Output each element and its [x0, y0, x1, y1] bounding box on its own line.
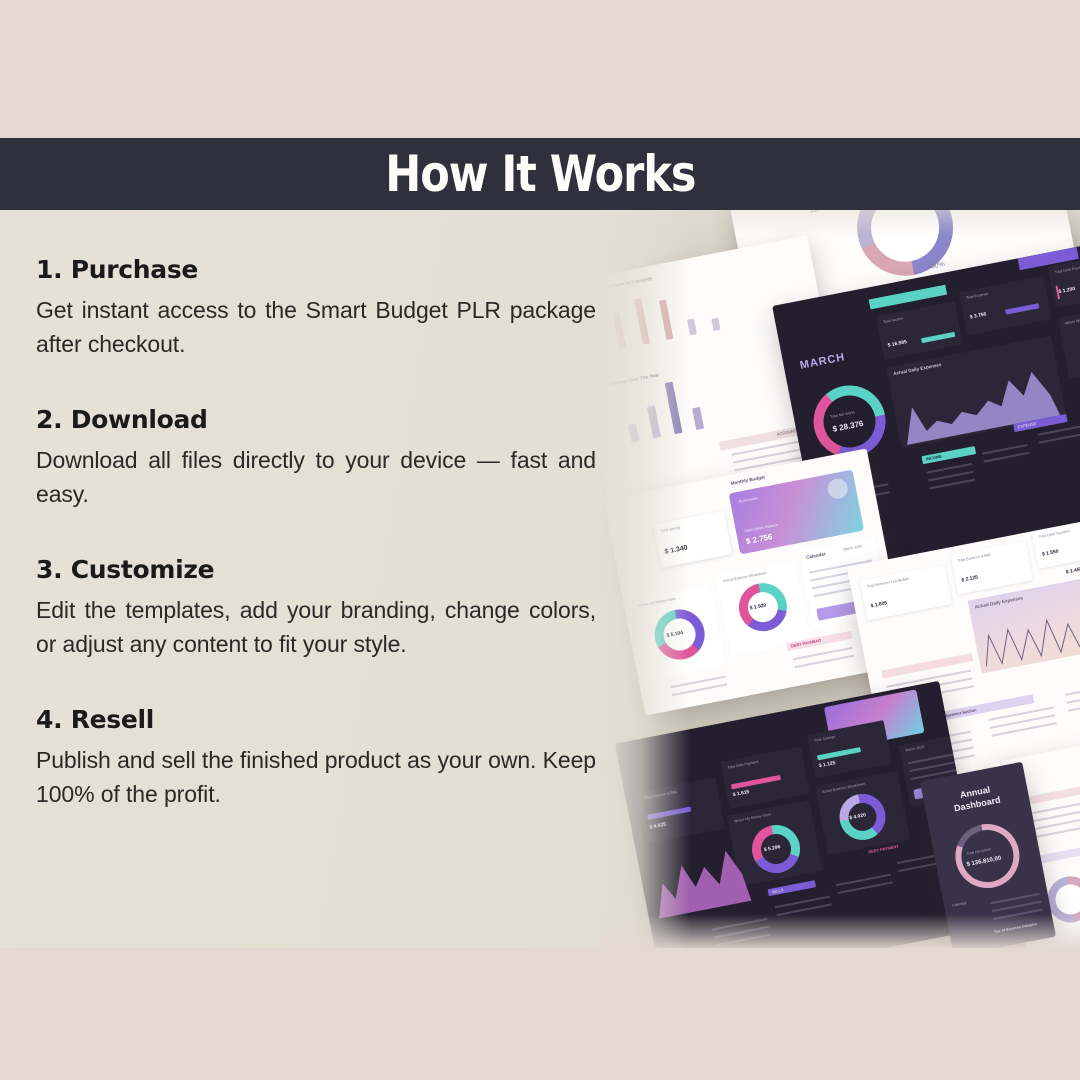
card-badge: [826, 477, 849, 500]
dashboard-collage-photo: 22% 50% Expense Bills Debt Payment Savin…: [600, 210, 1080, 948]
table-row: [1065, 682, 1080, 696]
light-dashboard-title: Monthly Budget: [730, 474, 765, 486]
step-title: 1. Purchase: [36, 255, 596, 284]
calendar-month: March 2025: [843, 544, 862, 552]
kpi-label: Total Expense & Bills: [957, 553, 991, 563]
table-row: [983, 452, 1029, 463]
kpi-value: $ 16.985: [887, 339, 907, 349]
kpi-label: Where My Money Goes: [734, 812, 772, 823]
step-item: 2. Download Download all files directly …: [36, 405, 596, 511]
page-title: How It Works: [385, 145, 695, 203]
step-body: Edit the templates, add your branding, c…: [36, 593, 596, 661]
bar: [711, 318, 720, 331]
kpi-value: $ 1.125: [818, 760, 836, 769]
kpi-label: Total Expense: [966, 292, 989, 300]
step-title: 3. Customize: [36, 555, 596, 584]
steps-list: 1. Purchase Get instant access to the Sm…: [36, 255, 596, 811]
line-chart: [972, 597, 1080, 672]
kpi-label: Total Debt Payment: [1055, 265, 1080, 275]
slide-root: How It Works 22% 50% Expense Bills Debt …: [0, 0, 1080, 1080]
kpi-card: Total Savings $ 1.125: [807, 720, 892, 778]
photo-fade-left: [600, 210, 690, 948]
kpi-label: Total Debt Payment: [727, 760, 759, 770]
calendar-title: Calendar: [952, 901, 967, 908]
step-item: 3. Customize Edit the templates, add you…: [36, 555, 596, 661]
table-row: [1039, 433, 1080, 444]
step-item: 4. Resell Publish and sell the finished …: [36, 705, 596, 811]
kpi-progress: [1005, 303, 1039, 314]
kpi-card: Total Members Left Budget $ 1.605: [860, 565, 952, 621]
kpi-label: Actual Expense Breakdown: [723, 571, 767, 583]
kpi-label: Total Debt Payment: [1038, 529, 1070, 539]
step-title: 4. Resell: [36, 705, 596, 734]
table-row: [930, 479, 976, 490]
background-band-top: [0, 0, 1080, 138]
kpi-label: Where My Money Goes: [1064, 314, 1080, 325]
kpi-value: $ 1.605: [870, 600, 888, 609]
card-label: All Accounts: [738, 496, 758, 504]
kpi-value: $ 1.615: [732, 789, 750, 798]
kpi-card: Total Debt Payment $ 1.615: [720, 746, 810, 809]
kpi-card: Total Expense $ 3.756: [959, 276, 1052, 336]
step-title: 2. Download: [36, 405, 596, 434]
kpi-value: $ 2.125: [961, 574, 979, 583]
donut-percent-2: 50%: [930, 261, 945, 271]
calendar-month: March 2025: [905, 745, 924, 753]
table-header-band: [881, 653, 973, 678]
kpi-progress: [921, 332, 955, 343]
kpi-value: $ 3.756: [969, 311, 987, 320]
kpi-label: Total Income: [883, 316, 904, 324]
kpi-card-donut: Where My Money Goes $ 5.964: [1058, 301, 1080, 378]
card-value: $ 2.756: [745, 532, 773, 546]
kpi-value: $ 1.200: [1058, 286, 1076, 295]
photo-fade-bottom: [600, 914, 1080, 948]
bar: [692, 407, 704, 430]
step-body: Download all files directly to your devi…: [36, 443, 596, 511]
step-body: Publish and sell the finished product as…: [36, 743, 596, 811]
background-band-bottom: [0, 948, 1080, 1080]
kpi-value: $ 1.550: [1042, 549, 1060, 558]
kpi-label: Total Savings: [814, 735, 836, 743]
kpi-card-donut: Actual Expense Breakdown $ 4.020: [815, 770, 911, 855]
kpi-label: Actual Expense Breakdown: [822, 782, 866, 794]
card-sub: Total Current Balance: [744, 523, 779, 534]
calendar-title: Calendar: [806, 551, 826, 560]
chart-title: Actual Daily Expenses: [974, 595, 1023, 609]
kpi-value: $ 1.455: [1065, 566, 1080, 575]
step-item: 1. Purchase Get instant access to the Sm…: [36, 255, 596, 361]
step-body: Get instant access to the Smart Budget P…: [36, 293, 596, 361]
kpi-progress: [731, 775, 781, 789]
chart-title: Actual Daily Expenses: [893, 362, 942, 376]
kpi-label: Total Members Left Budget: [867, 577, 910, 589]
kpi-card: Total Expense & Bills $ 2.125: [951, 541, 1033, 595]
kpi-progress: [817, 747, 861, 760]
kpi-card: Total Income $ 16.985: [876, 301, 963, 359]
header-bar: How It Works: [0, 138, 1080, 210]
march-title: MARCH: [799, 351, 846, 372]
